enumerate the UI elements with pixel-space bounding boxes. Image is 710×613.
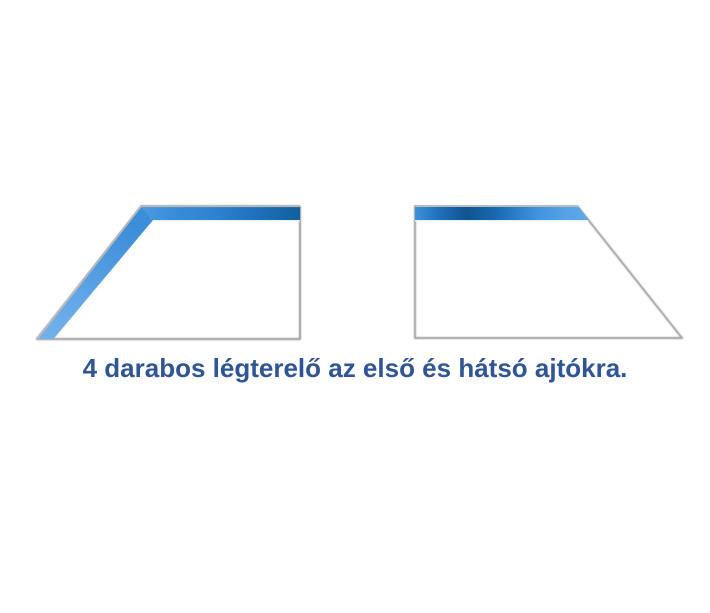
figure-caption: 4 darabos légterelő az első és hátsó ajt… [0, 352, 710, 384]
front-door-outline [37, 207, 300, 339]
front-door-wind-deflector-figure [37, 206, 300, 339]
rear-door-outline [415, 207, 682, 338]
rear-door-wind-deflector-figure [414, 206, 682, 338]
product-illustration-canvas: 4 darabos légterelő az első és hátsó ajt… [0, 0, 710, 613]
front-door-deflector-band-top [141, 206, 300, 220]
rear-door-deflector-band-top [415, 206, 589, 220]
wind-deflector-diagram [0, 0, 710, 613]
